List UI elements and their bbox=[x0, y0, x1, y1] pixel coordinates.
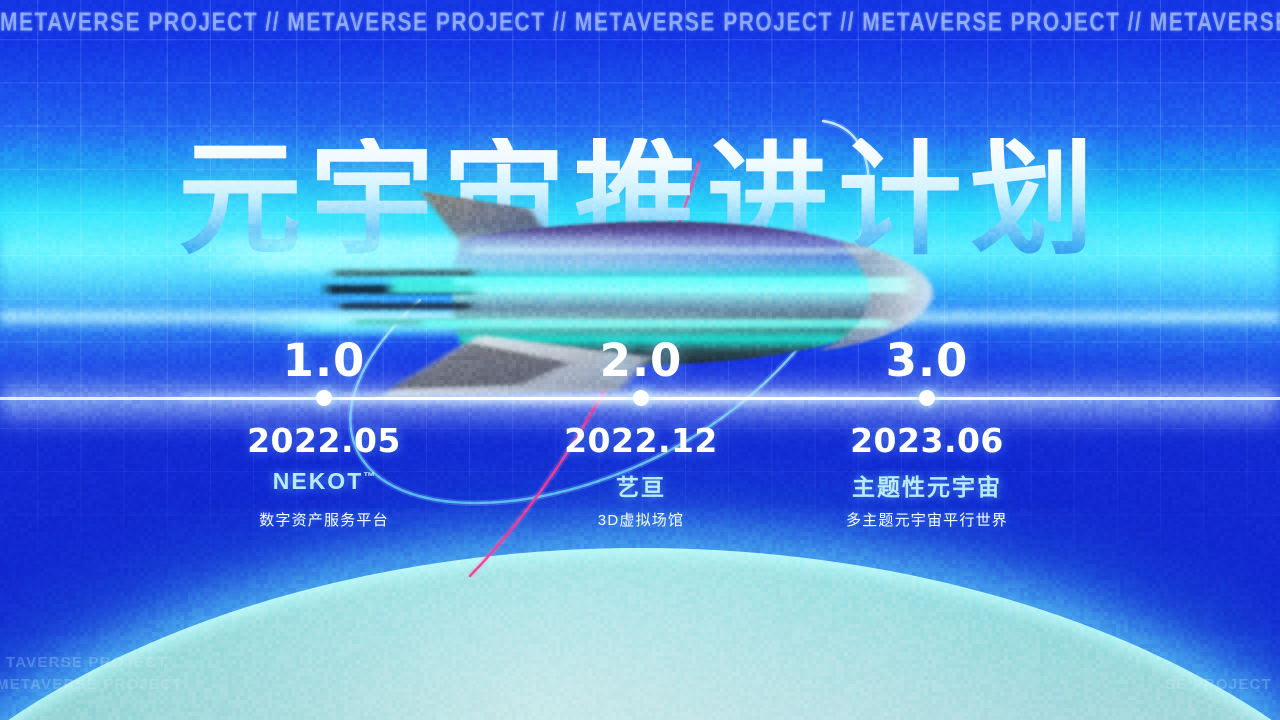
milestone-1-version: 1.0 bbox=[174, 334, 474, 387]
watermark-bottom-left-1: TAVERSE PROJECT bbox=[6, 654, 168, 671]
milestone-2-version: 2.0 bbox=[491, 334, 791, 387]
milestone-1-name: NEKOT™ bbox=[174, 468, 474, 495]
milestone-2-name: 艺亘 bbox=[491, 468, 791, 502]
timeline-node-1[interactable] bbox=[316, 390, 332, 406]
milestone-1-name-text: NEKOT bbox=[273, 468, 364, 494]
rocket-motion-streak-1 bbox=[180, 236, 1000, 272]
milestone-2-desc: 3D虚拟场馆 bbox=[491, 509, 791, 530]
milestone-3-name-text: 主题性元宇宙 bbox=[852, 474, 1002, 500]
timeline-node-2[interactable] bbox=[633, 390, 649, 406]
rocket-motion-streak-2 bbox=[220, 312, 980, 334]
trademark-icon: ™ bbox=[363, 469, 375, 483]
milestone-3-desc: 多主题元宇宙平行世界 bbox=[777, 509, 1077, 530]
marquee-text: METAVERSE PROJECT // METAVERSE PROJECT /… bbox=[0, 8, 1280, 38]
watermark-bottom-left-2: METAVERSE PROJECT bbox=[0, 676, 183, 693]
milestone-1-date: 2022.05 bbox=[174, 421, 474, 460]
milestone-1-desc: 数字资产服务平台 bbox=[174, 509, 474, 530]
marquee-banner: METAVERSE PROJECT // METAVERSE PROJECT /… bbox=[0, 8, 1280, 46]
milestone-3-date: 2023.06 bbox=[777, 421, 1077, 460]
timeline-node-3[interactable] bbox=[919, 390, 935, 406]
milestone-2-date: 2022.12 bbox=[491, 421, 791, 460]
watermark-bottom-right: SE PROJECT bbox=[1165, 676, 1272, 693]
metaverse-roadmap-poster: METAVERSE PROJECT // METAVERSE PROJECT /… bbox=[0, 0, 1280, 720]
milestone-3-version: 3.0 bbox=[777, 334, 1077, 387]
milestone-3-name: 主题性元宇宙 bbox=[777, 468, 1077, 502]
milestone-2-name-text: 艺亘 bbox=[616, 474, 666, 500]
